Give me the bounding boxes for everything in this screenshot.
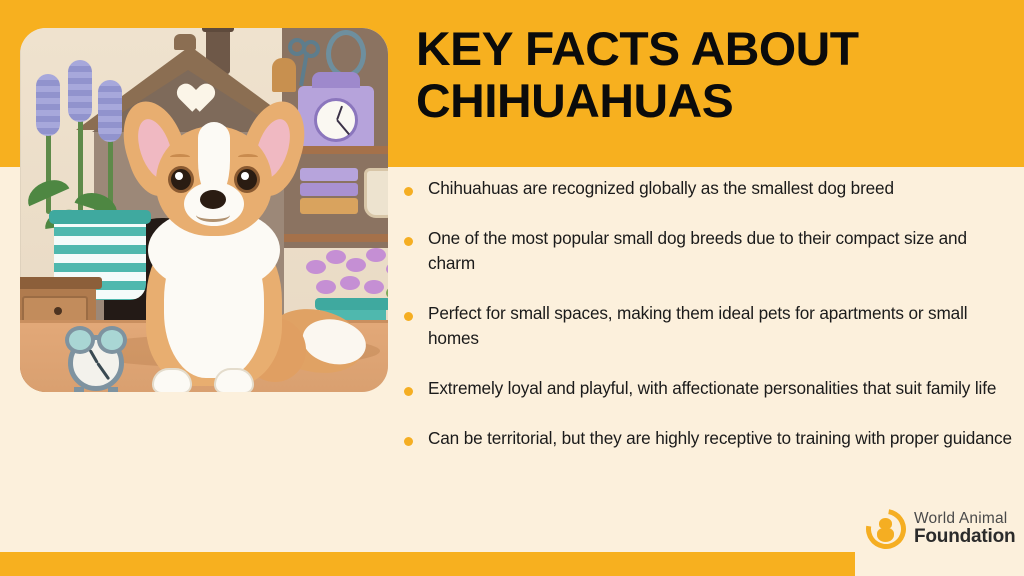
- fact-text: Can be territorial, but they are highly …: [428, 426, 1012, 451]
- hoop-icon: [326, 30, 366, 78]
- fact-text: Extremely loyal and playful, with affect…: [428, 376, 996, 401]
- list-item: One of the most popular small dog breeds…: [404, 226, 1020, 276]
- dog-mouth: [196, 208, 230, 222]
- dog-brow-right: [238, 154, 258, 160]
- chihuahua-illustration: [20, 28, 388, 392]
- fact-text: One of the most popular small dog breeds…: [428, 226, 1018, 276]
- chihuahua-dog: [118, 96, 310, 392]
- bottom-accent-bar: [0, 552, 855, 576]
- logo-paw-circle-icon: [866, 509, 906, 549]
- bullet-dot-icon: [404, 387, 413, 396]
- dog-nose: [200, 190, 226, 209]
- fact-text: Chihuahuas are recognized globally as th…: [428, 176, 894, 201]
- bullet-dot-icon: [404, 437, 413, 446]
- list-item: Chihuahuas are recognized globally as th…: [404, 176, 1020, 201]
- alarm-clock-icon: [68, 335, 124, 391]
- clock-minute-hand: [336, 119, 350, 135]
- dog-eye-right: [234, 166, 260, 193]
- bullet-dot-icon: [404, 187, 413, 196]
- logo-wordmark: World Animal Foundation: [914, 511, 1015, 547]
- dog-brow-left: [170, 154, 190, 160]
- bullet-dot-icon: [404, 312, 413, 321]
- list-item: Extremely loyal and playful, with affect…: [404, 376, 1020, 401]
- bullet-dot-icon: [404, 237, 413, 246]
- list-item: Perfect for small spaces, making them id…: [404, 301, 1020, 351]
- clock-face: [314, 98, 358, 142]
- dog-paw-left: [152, 368, 192, 392]
- dog-paw-right: [214, 368, 254, 392]
- clock-hour-hand: [336, 106, 343, 121]
- dog-eye-left: [168, 166, 194, 193]
- logo-pet-silhouette-icon: [877, 518, 895, 542]
- roof-knob: [174, 34, 196, 50]
- jar-icon: [364, 168, 388, 218]
- logo-line-1: World Animal: [914, 511, 1015, 527]
- logo-line-2: Foundation: [914, 527, 1015, 547]
- world-animal-foundation-logo: World Animal Foundation: [866, 509, 1015, 549]
- alarm-minute-hand: [96, 362, 110, 380]
- facts-list: Chihuahuas are recognized globally as th…: [404, 176, 1020, 476]
- page-title: KEY FACTS ABOUT CHIHUAHUAS: [416, 23, 1024, 126]
- dog-chest: [164, 222, 264, 378]
- fact-text: Perfect for small spaces, making them id…: [428, 301, 1018, 351]
- list-item: Can be territorial, but they are highly …: [404, 426, 1020, 451]
